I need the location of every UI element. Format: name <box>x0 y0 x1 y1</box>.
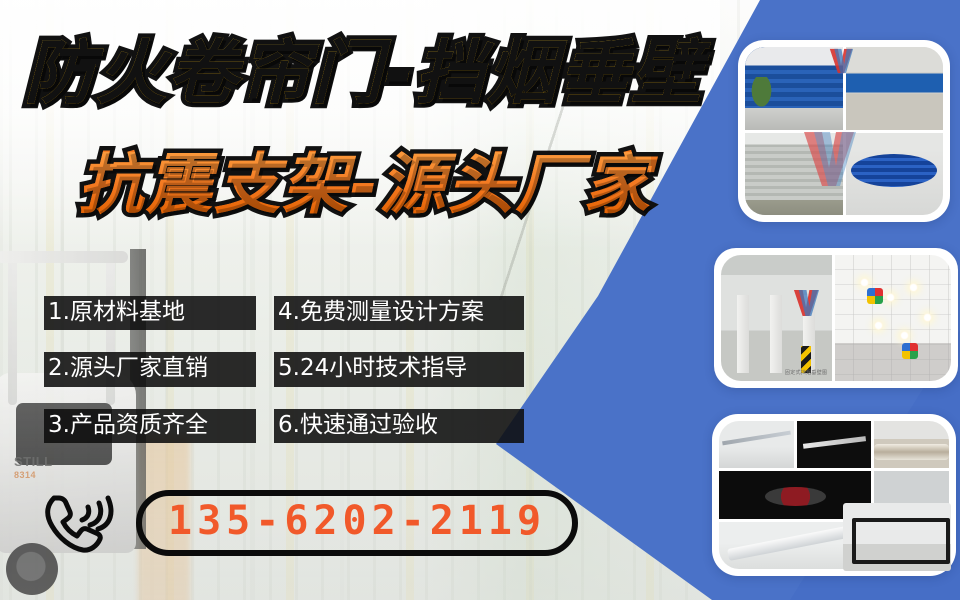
garage-column <box>770 295 782 373</box>
ceiling-lamp <box>923 313 932 322</box>
feature-item-5: 5.24小时技术指导 <box>274 352 524 386</box>
feature-item-6: 6.快速通过验收 <box>274 409 524 443</box>
collage-grid <box>745 47 943 215</box>
phone-call-icon <box>40 488 114 558</box>
poster-canvas: STILL 8314 防火卷帘门-挡烟垂壁 防火卷帘门-挡烟垂壁 抗震支架-源头… <box>0 0 960 600</box>
photo-mall-ceiling <box>835 255 951 381</box>
ceiling-lamp <box>860 278 869 287</box>
photo-parking-garage: 固定式挡烟垂壁图 <box>721 255 832 381</box>
feature-list: 1.原材料基地 4.免费测量设计方案 2.源头厂家直销 5.24小时技术指导 3… <box>44 296 564 465</box>
headline-line1: 防火卷帘门-挡烟垂壁 <box>24 38 703 108</box>
phone-number-pill[interactable]: 135-6202-2119 <box>136 490 578 557</box>
fire-shutter-product-collage[interactable] <box>738 40 950 222</box>
photo-blue-rolling-door <box>745 47 843 130</box>
feature-item-3: 3.产品资质齐全 <box>44 409 256 443</box>
photo-caption: 固定式挡烟垂壁图 <box>785 369 827 376</box>
smoke-barrier-site-collage[interactable]: 固定式挡烟垂壁图 <box>714 248 958 388</box>
collage-grid: 固定式挡烟垂壁图 <box>721 255 951 381</box>
contact-block[interactable]: 135-6202-2119 <box>40 488 578 558</box>
ceiling-lamp <box>900 331 909 340</box>
ceiling-lamp <box>909 283 918 292</box>
ceiling-lamp <box>886 293 895 302</box>
phone-number: 135-6202-2119 <box>168 499 546 544</box>
feature-item-2: 2.源头厂家直销 <box>44 352 256 386</box>
photo-pipe-brace <box>719 421 794 468</box>
photo-blue-coil <box>846 133 944 216</box>
ceiling-lamp <box>874 321 883 330</box>
garage-column <box>737 295 749 373</box>
photo-frame-brace <box>843 503 951 571</box>
photo-production-machine <box>846 47 944 130</box>
feature-row: 3.产品资质齐全 6.快速通过验收 <box>44 409 564 443</box>
feature-item-1: 1.原材料基地 <box>44 296 256 330</box>
pinwheel-decoration <box>867 288 883 304</box>
photo-brace-detail <box>797 421 872 468</box>
seismic-frame-photo-wrap <box>838 498 956 576</box>
potted-plant <box>749 77 774 112</box>
feature-row: 1.原材料基地 4.免费测量设计方案 <box>44 296 564 330</box>
photo-duct-clamp <box>874 421 949 468</box>
feature-row: 2.源头厂家直销 5.24小时技术指导 <box>44 352 564 386</box>
feature-item-4: 4.免费测量设计方案 <box>274 296 524 330</box>
headline-line2: 抗震支架-源头厂家 <box>78 152 651 218</box>
pinwheel-decoration <box>902 343 918 359</box>
photo-grey-rolling-door <box>745 133 843 216</box>
